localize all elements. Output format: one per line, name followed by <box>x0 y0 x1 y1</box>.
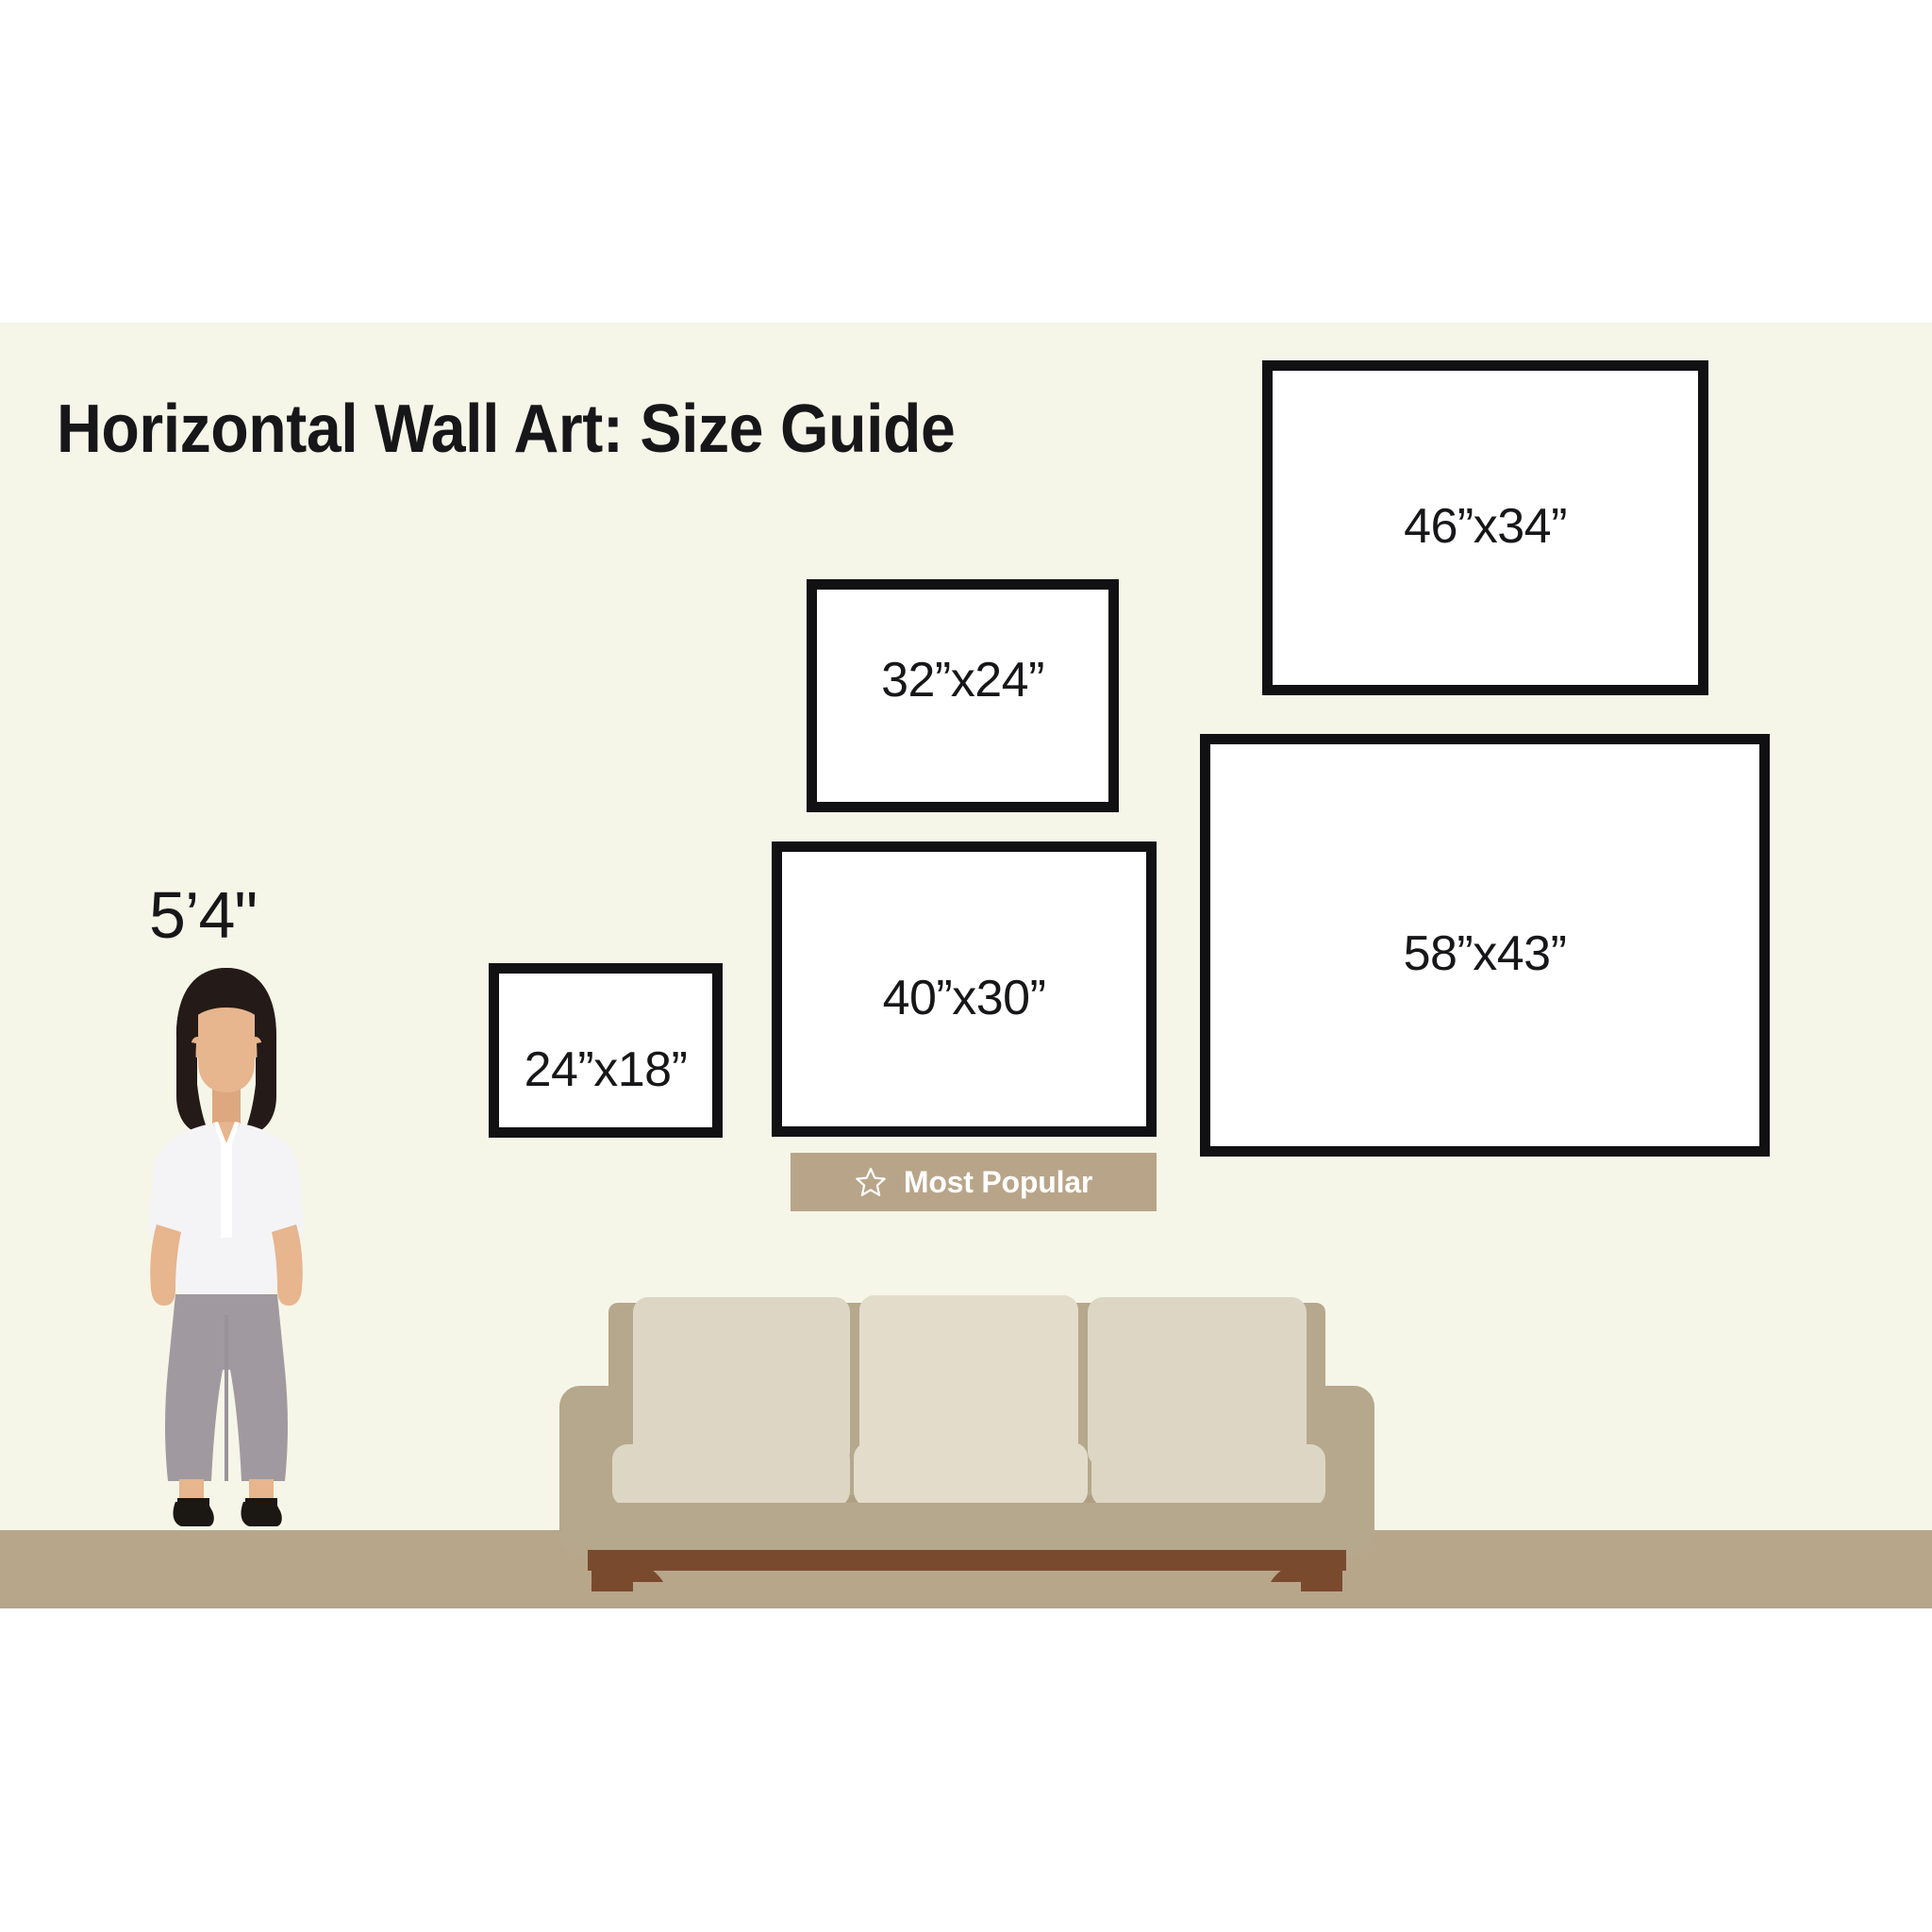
size-guide-illustration: Horizontal Wall Art: Size Guide 5’4" <box>0 0 1932 1932</box>
art-frame-40x30[interactable]: 40”x30” <box>772 841 1157 1137</box>
room-scene: Horizontal Wall Art: Size Guide 5’4" <box>0 323 1932 1608</box>
star-outline-icon <box>855 1166 887 1198</box>
art-frame-label: 32”x24” <box>881 652 1044 802</box>
art-frame-label: 24”x18” <box>525 1041 688 1127</box>
art-frame-label: 58”x43” <box>1404 925 1567 1146</box>
art-frame-32x24[interactable]: 32”x24” <box>807 579 1119 812</box>
most-popular-label: Most Popular <box>904 1165 1092 1200</box>
page-title: Horizontal Wall Art: Size Guide <box>57 391 955 468</box>
art-frame-24x18[interactable]: 24”x18” <box>489 963 723 1138</box>
art-frame-label: 40”x30” <box>883 970 1046 1126</box>
art-frame-46x34[interactable]: 46”x34” <box>1262 360 1708 695</box>
height-reference-label: 5’4" <box>149 877 257 953</box>
sofa-illustration <box>542 1280 1391 1591</box>
most-popular-badge[interactable]: Most Popular <box>791 1153 1157 1211</box>
art-frame-58x43[interactable]: 58”x43” <box>1200 734 1770 1157</box>
standing-person-figure <box>123 964 330 1535</box>
art-frame-label: 46”x34” <box>1404 498 1567 685</box>
